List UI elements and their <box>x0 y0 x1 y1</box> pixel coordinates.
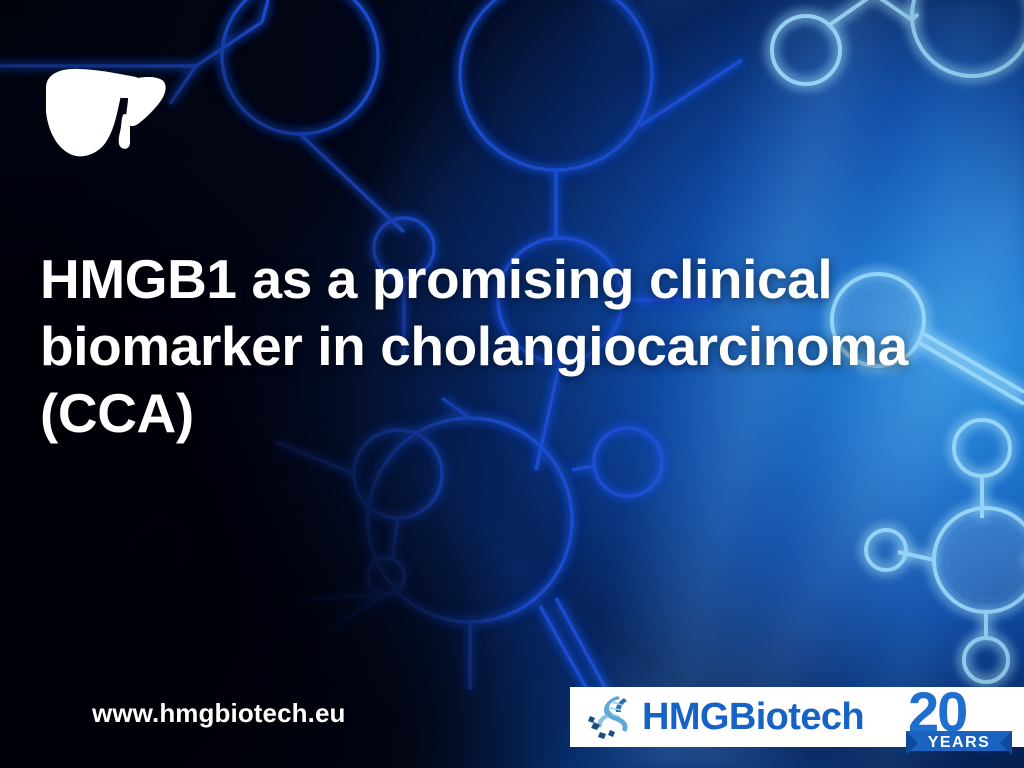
page-title: HMGB1 as a promising clinical biomarker … <box>40 246 940 447</box>
logo-wordmark: HMGBiotech <box>642 698 864 736</box>
dna-helix-icon <box>588 692 634 742</box>
liver-icon <box>36 58 168 166</box>
presentation-slide: HMGB1 as a promising clinical biomarker … <box>0 0 1024 768</box>
website-url[interactable]: www.hmgbiotech.eu <box>92 698 346 729</box>
company-logo: HMGBiotech <box>570 687 1024 747</box>
